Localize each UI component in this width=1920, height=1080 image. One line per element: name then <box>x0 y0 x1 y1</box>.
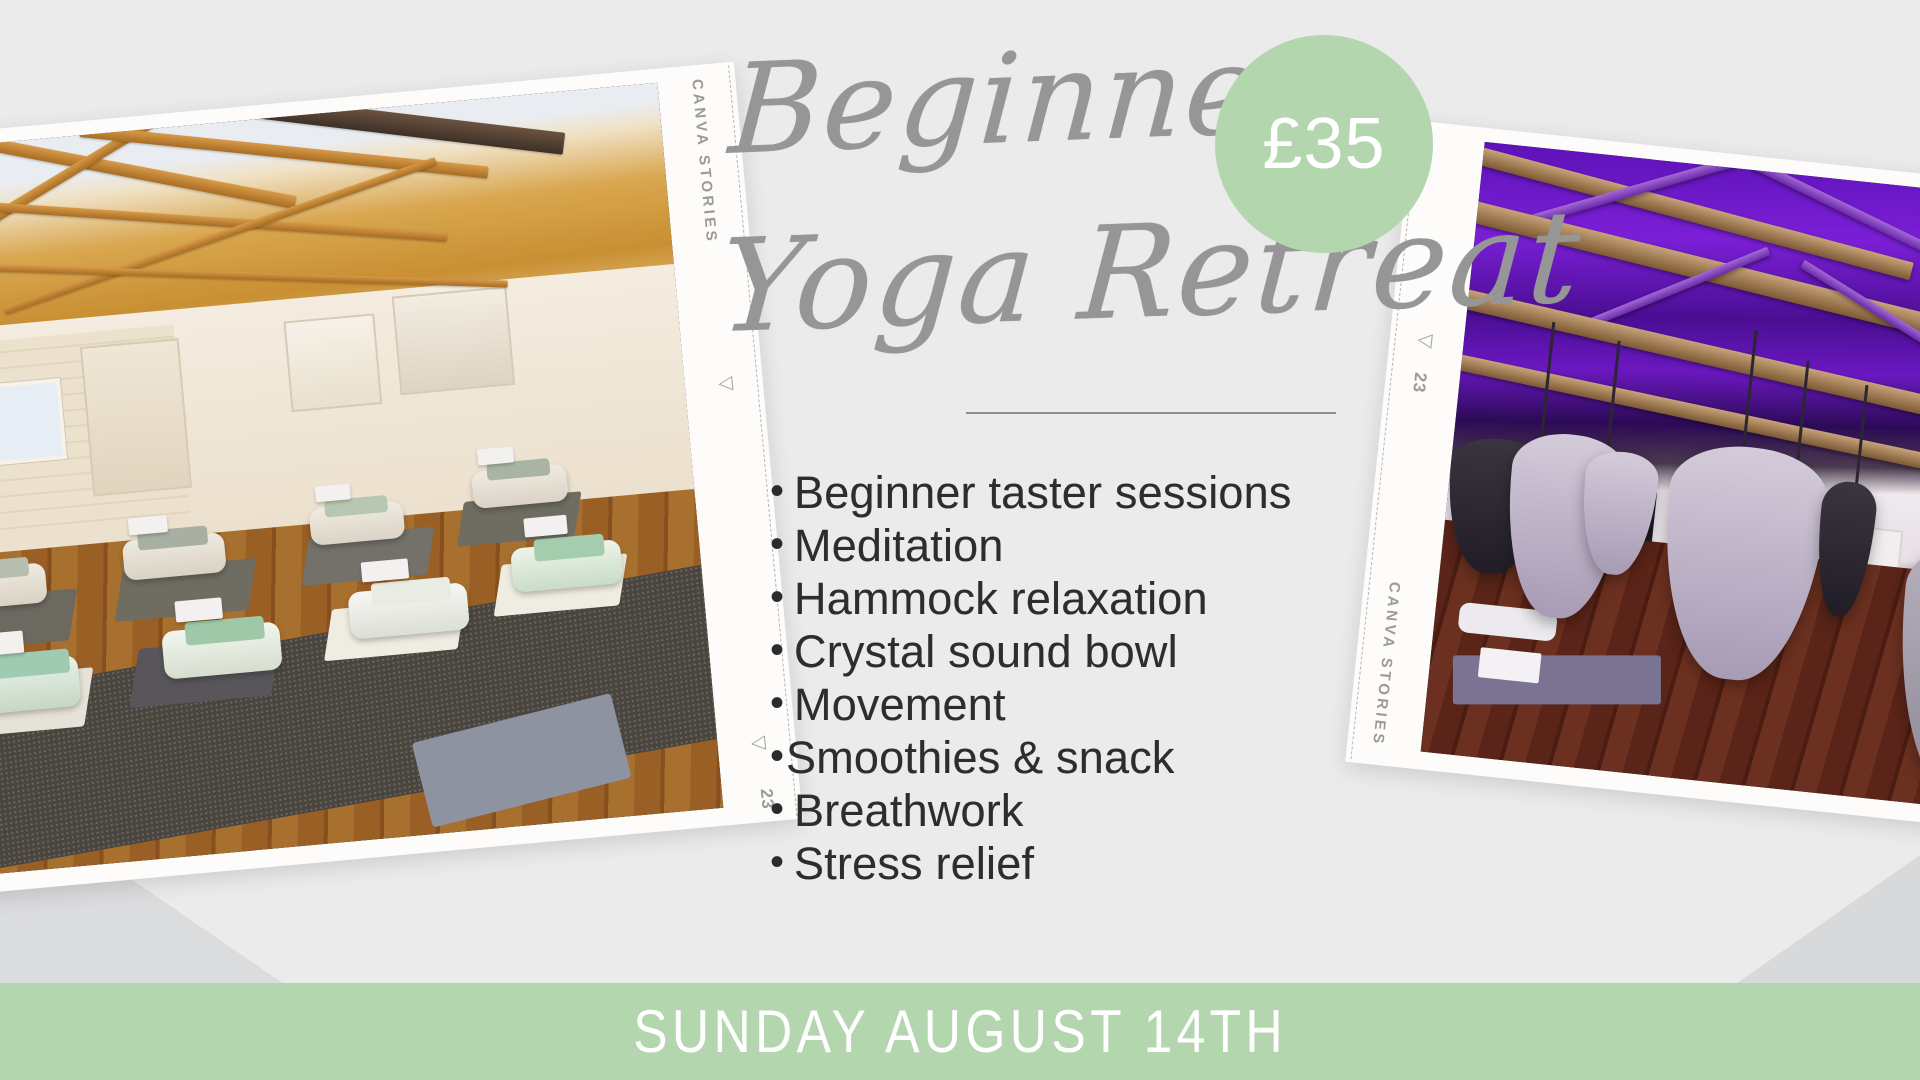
features-list: • Beginner taster sessions • Meditation … <box>770 470 1470 894</box>
bullet-icon: • <box>770 842 784 882</box>
date-banner: SUNDAY AUGUST 14TH <box>0 983 1920 1080</box>
list-item-label: Crystal sound bowl <box>794 629 1178 674</box>
list-item: • Movement <box>770 682 1470 735</box>
list-item-label: Movement <box>794 682 1006 727</box>
yoga-studio-scene <box>0 83 723 879</box>
list-item-label: Beginner taster sessions <box>794 470 1292 515</box>
photo-left-image <box>0 83 723 879</box>
bullet-icon: • <box>770 789 784 829</box>
bullet-icon: • <box>770 683 784 723</box>
price-label: £35 <box>1262 108 1385 180</box>
bullet-icon: • <box>770 736 784 776</box>
photo-card-left: CANVA STORIES ◁ ◁ 23 <box>0 62 803 899</box>
title-underline-rule <box>966 412 1336 414</box>
list-item-label: Stress relief <box>794 841 1034 886</box>
price-badge: £35 <box>1215 35 1433 253</box>
list-item: • Breathwork <box>770 788 1470 841</box>
list-item: • Beginner taster sessions <box>770 470 1470 523</box>
title-line-yoga-retreat: Yoga Retreat <box>715 183 1587 363</box>
poster-canvas: CANVA STORIES ◁ ◁ 23 <box>0 0 1920 1080</box>
list-item: • Smoothies & snack <box>770 735 1470 788</box>
list-item: • Hammock relaxation <box>770 576 1470 629</box>
film-triangle-marker-icon: ◁ <box>750 733 766 753</box>
list-item: • Crystal sound bowl <box>770 629 1470 682</box>
list-item: • Meditation <box>770 523 1470 576</box>
list-item-label: Meditation <box>794 523 1004 568</box>
bullet-icon: • <box>770 524 784 564</box>
list-item-label: Hammock relaxation <box>794 576 1208 621</box>
list-item-label: Breathwork <box>794 788 1024 833</box>
bullet-icon: • <box>770 630 784 670</box>
list-item: • Stress relief <box>770 841 1470 894</box>
list-item-label: Smoothies & snack <box>786 735 1175 780</box>
bullet-icon: • <box>770 577 784 617</box>
date-text: SUNDAY AUGUST 14TH <box>633 997 1287 1066</box>
bullet-icon: • <box>770 471 784 511</box>
